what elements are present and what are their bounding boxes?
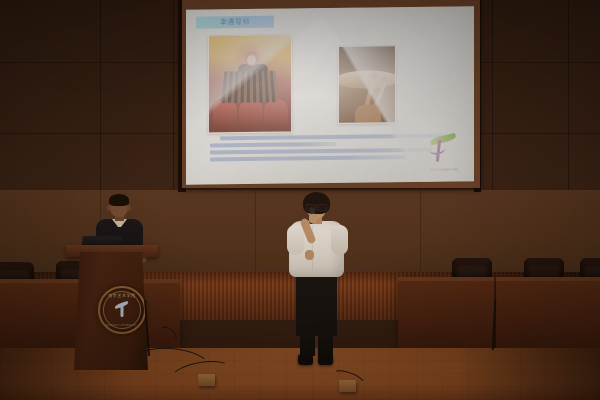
slide-corner-logo: 南京艺术学院音乐学院 (426, 133, 462, 171)
microphone-head-icon (309, 207, 315, 213)
slide-body-line (210, 148, 432, 155)
seal-bottom-text: NANJING UNIVERSITY OF THE ARTS (106, 324, 138, 327)
logo-caption: 南京艺术学院音乐学院 (426, 167, 462, 171)
floor-wedge-block-left (198, 374, 215, 386)
floor-wedge-block-right (339, 380, 356, 392)
slide-body-line (210, 142, 336, 148)
slide-body-line (220, 134, 445, 141)
photograph-scene: 幸遇导师 (0, 0, 600, 400)
seal-bird-icon (116, 301, 129, 317)
slide-title-text: 幸遇导师 (220, 17, 250, 27)
panel-table-right (398, 277, 600, 353)
seal-top-text: 南京艺术学院 (107, 293, 137, 301)
projection-screen: 幸遇导师 (186, 6, 474, 185)
slide-body-text (210, 134, 440, 165)
speaker-with-microphone (282, 192, 352, 368)
slide-body-line (210, 155, 406, 161)
photo-performer-with-music-stand (208, 34, 292, 133)
slide-title-band: 幸遇导师 (196, 16, 274, 29)
photo-mallets-on-timpani (338, 45, 396, 124)
institution-seal: 南京艺术学院 NANJING UNIVERSITY OF THE ARTS (98, 286, 146, 334)
speaker-shoe (318, 354, 333, 365)
logo-swoosh-icon (428, 142, 446, 156)
speaker-shoe (298, 354, 313, 365)
